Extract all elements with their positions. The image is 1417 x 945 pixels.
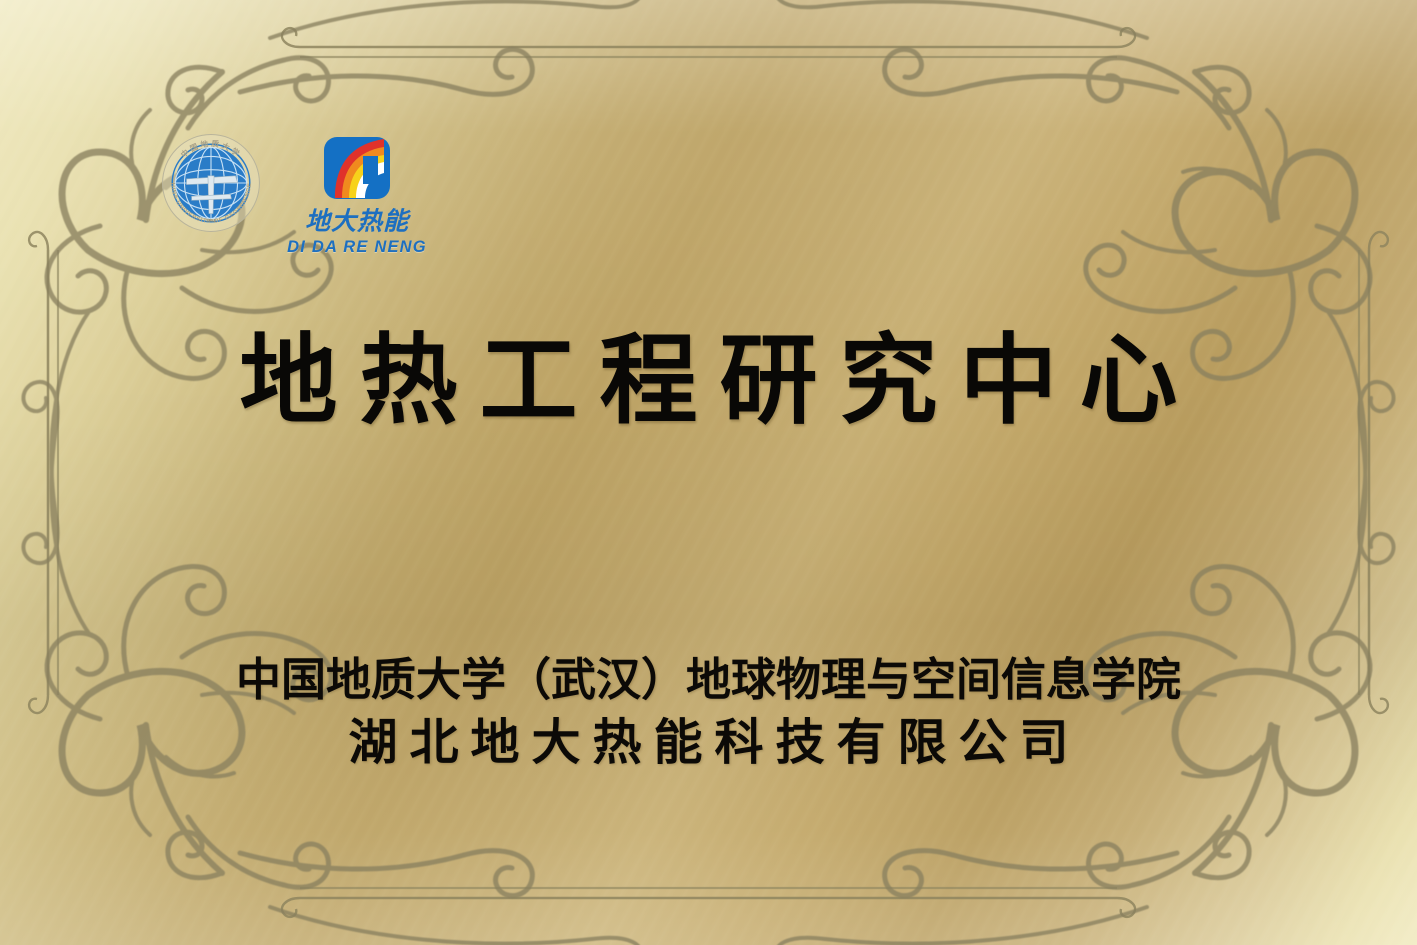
svg-text:1952: 1952 — [206, 218, 217, 223]
page-title: 地热工程研究中心 — [0, 330, 1417, 433]
corner-flourish-top-left — [23, 0, 641, 563]
didareneng-chinese-wordmark-icon: 地大热能 — [284, 203, 430, 237]
logo-row: 中国地质大学 CHINA UNIVERSITY OF GEOSCIENCES 1… — [160, 132, 430, 256]
corner-flourish-top-right — [776, 0, 1394, 563]
didareneng-logo-mark-icon — [322, 136, 392, 202]
china-university-of-geosciences-seal-icon: 中国地质大学 CHINA UNIVERSITY OF GEOSCIENCES 1… — [160, 132, 262, 234]
institution-line-company: 湖北地大热能科技有限公司 — [0, 703, 1417, 774]
didareneng-logo: 地大热能 DI DA RE NENG — [284, 136, 430, 256]
didareneng-pinyin-label: DI DA RE NENG — [287, 239, 427, 256]
award-plaque: 中国地质大学 CHINA UNIVERSITY OF GEOSCIENCES 1… — [0, 0, 1417, 945]
institution-line-university: 中国地质大学（武汉）地球物理与空间信息学院 — [0, 643, 1417, 708]
svg-text:地大热能: 地大热能 — [305, 207, 411, 236]
